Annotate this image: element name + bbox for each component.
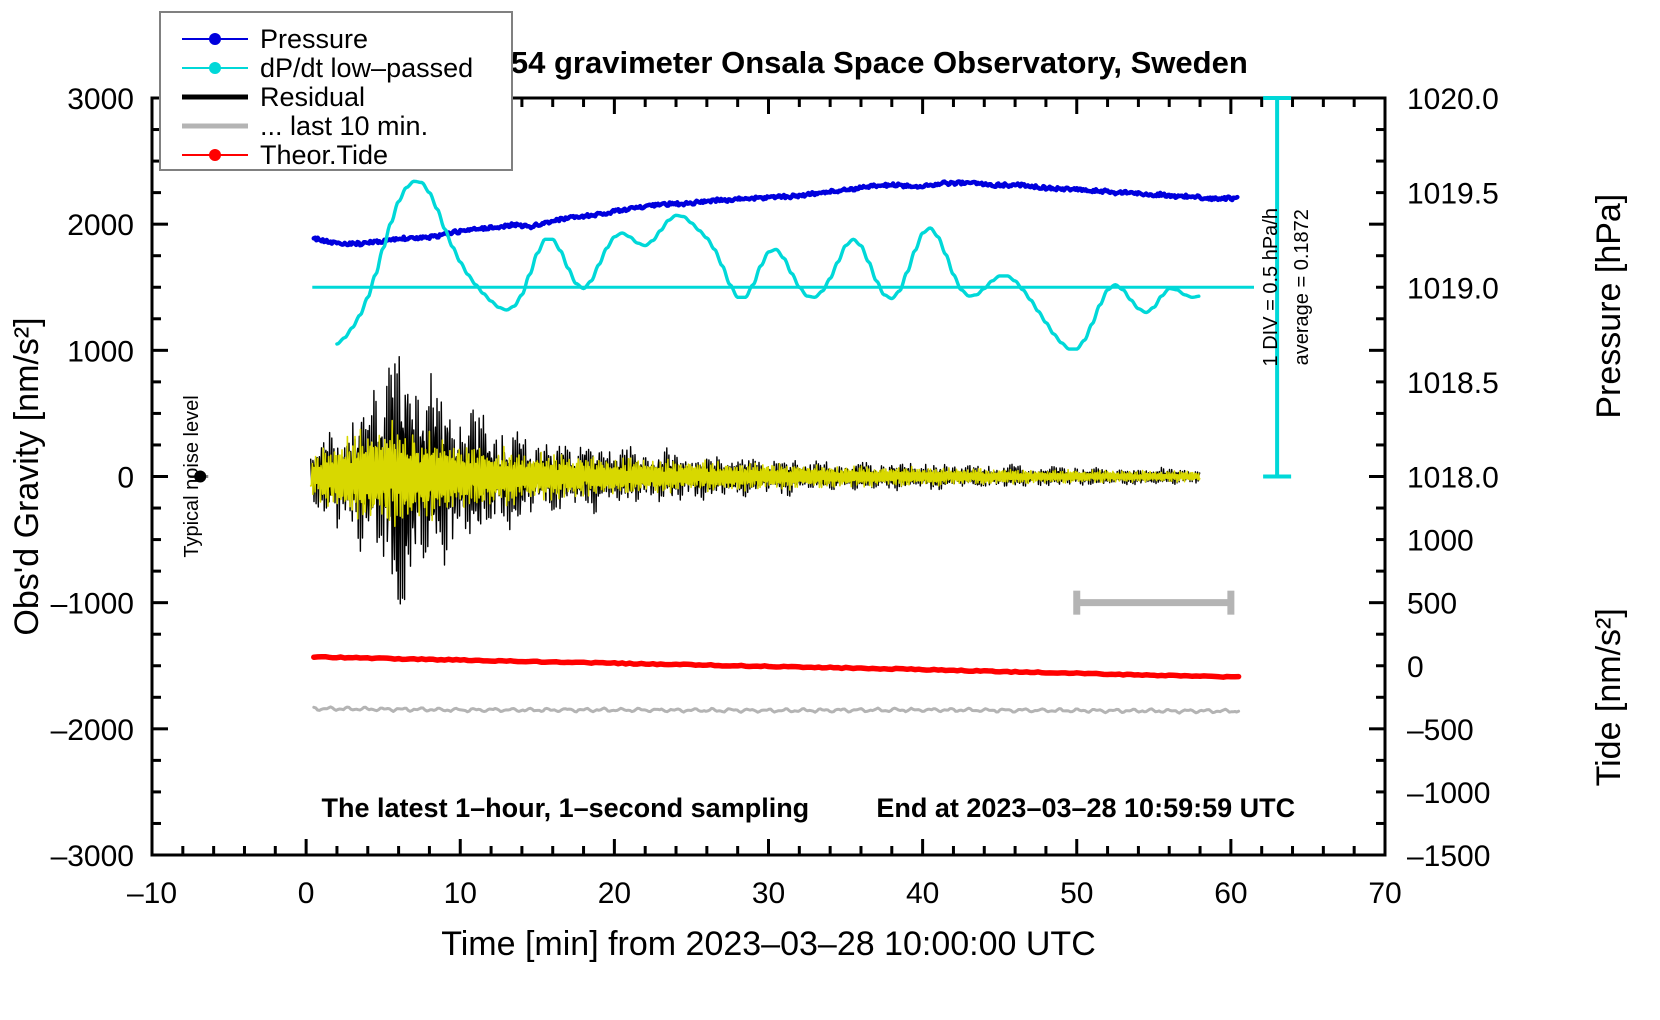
annotation-end-time-note: End at 2023–03–28 10:59:59 UTC [876, 793, 1295, 823]
legend-label-3[interactable]: ... last 10 min. [260, 111, 428, 141]
gravimeter-chart: –10010203040506070–3000–2000–10000100020… [0, 0, 1660, 1020]
legend-marker-1 [209, 62, 221, 74]
x-tick-label: 30 [752, 877, 785, 910]
legend-marker-0 [209, 33, 221, 45]
y-tick-label-pressure: 1019.0 [1407, 272, 1499, 305]
grey-smoothed-trace [314, 707, 1239, 713]
y-axis-title-left: Obs'd Gravity [nm/s²] [8, 317, 46, 635]
legend-label-4[interactable]: Theor.Tide [260, 140, 388, 170]
y-tick-label-tide: –1500 [1407, 840, 1490, 873]
annotation-div-scale: 1 DIV = 0.5 hPa/h [1260, 208, 1282, 366]
chart-root: –10010203040506070–3000–2000–10000100020… [0, 0, 1660, 1020]
y-tick-label-pressure: 1018.0 [1407, 462, 1499, 495]
y-tick-label-tide: 0 [1407, 651, 1424, 684]
x-axis-title: Time [min] from 2023–03–28 10:00:00 UTC [441, 925, 1096, 963]
y-axis-title-pressure: Pressure [hPa] [1590, 194, 1628, 419]
y-axis-title-tide: Tide [nm/s²] [1590, 608, 1628, 786]
x-tick-label: 60 [1214, 877, 1247, 910]
y-tick-label-left: 0 [117, 462, 134, 495]
y-tick-label-left: 1000 [67, 335, 134, 368]
x-tick-label: 0 [298, 877, 315, 910]
y-tick-label-pressure: 1019.5 [1407, 178, 1499, 211]
legend-label-1[interactable]: dP/dt low–passed [260, 53, 473, 83]
y-tick-label-tide: 1000 [1407, 525, 1474, 558]
y-tick-label-left: –3000 [51, 840, 134, 873]
dpdt-trace [337, 181, 1199, 349]
y-tick-label-left: 2000 [67, 209, 134, 242]
x-tick-label: 70 [1368, 877, 1401, 910]
theor-tide-trace [314, 657, 1239, 678]
y-tick-label-left: 3000 [67, 83, 134, 116]
x-tick-label: 50 [1060, 877, 1093, 910]
pressure-trace [314, 182, 1238, 246]
y-tick-label-left: –1000 [51, 588, 134, 621]
annotation-noise-level: Typical noise level [181, 395, 203, 557]
chart-title: SCG_054 gravimeter Onsala Space Observat… [409, 45, 1248, 80]
x-tick-label: 20 [598, 877, 631, 910]
y-tick-label-tide: –500 [1407, 714, 1474, 747]
y-tick-label-tide: –1000 [1407, 777, 1490, 810]
legend-marker-4 [209, 149, 221, 161]
y-tick-label-pressure: 1020.0 [1407, 83, 1499, 116]
y-tick-label-left: –2000 [51, 714, 134, 747]
x-tick-label: 40 [906, 877, 939, 910]
y-tick-label-pressure: 1018.5 [1407, 367, 1499, 400]
y-tick-label-tide: 500 [1407, 588, 1457, 621]
annotation-sampling-note: The latest 1–hour, 1–second sampling [322, 793, 810, 823]
annotation-dpdt-average: average = 0.1872 [1291, 209, 1313, 365]
x-tick-label: –10 [127, 877, 177, 910]
legend-label-2[interactable]: Residual [260, 82, 365, 112]
x-tick-label: 10 [444, 877, 477, 910]
legend-label-0[interactable]: Pressure [260, 24, 368, 54]
